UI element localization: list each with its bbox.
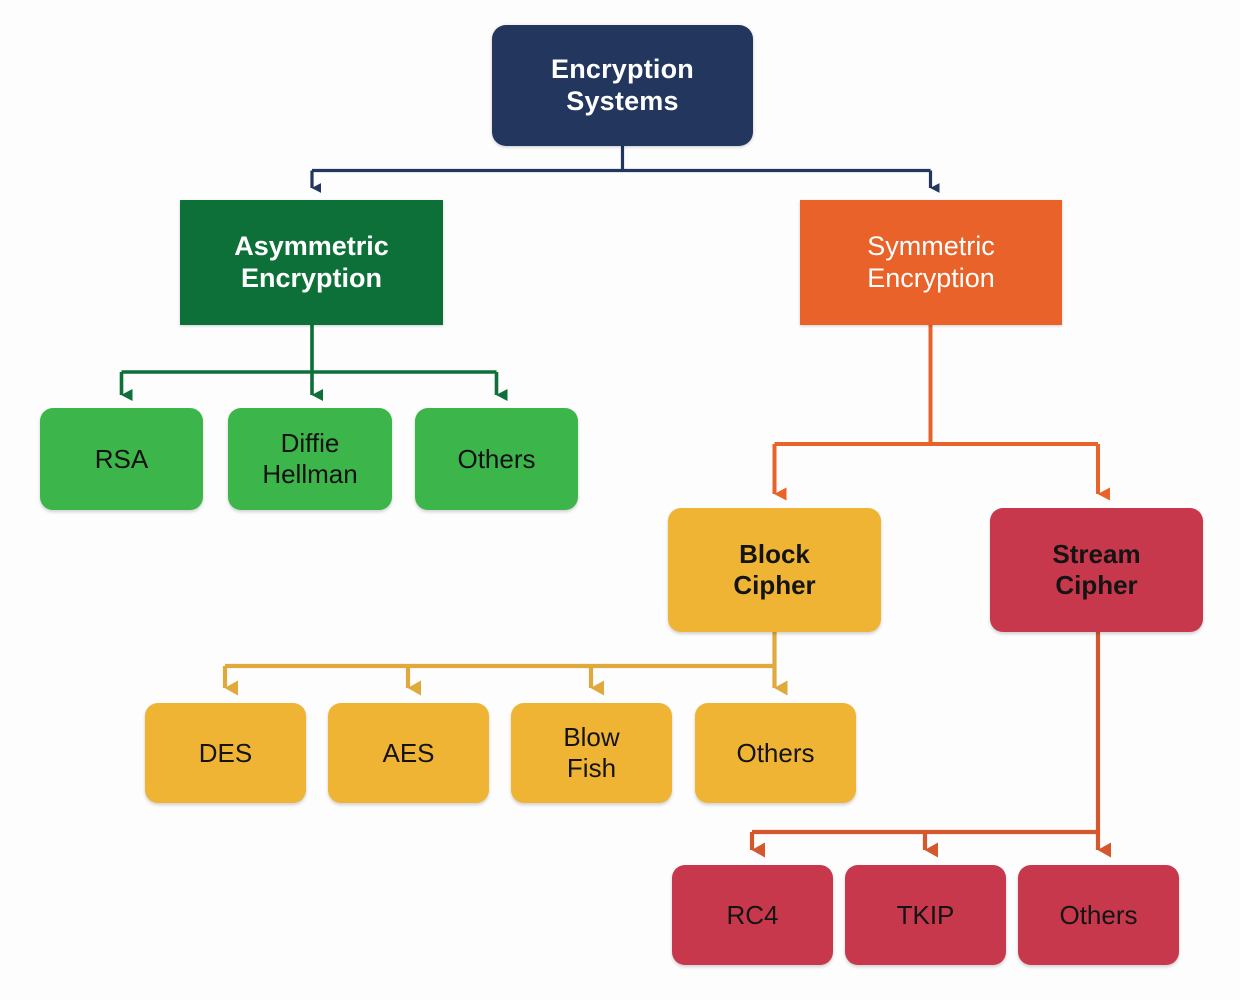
node-aes[interactable]: AES (328, 703, 489, 803)
edge-group-block (225, 632, 775, 688)
node-blow-fish[interactable]: Blow Fish (511, 703, 672, 803)
node-block-others[interactable]: Others (695, 703, 856, 803)
node-tkip[interactable]: TKIP (845, 865, 1006, 965)
node-asymmetric-others[interactable]: Others (415, 408, 578, 510)
diagram-canvas: Encryption Systems Asymmetric Encryption… (0, 0, 1240, 1000)
node-symmetric-encryption[interactable]: Symmetric Encryption (800, 200, 1062, 325)
node-asymmetric-encryption[interactable]: Asymmetric Encryption (180, 200, 443, 325)
node-des[interactable]: DES (145, 703, 306, 803)
node-rc4[interactable]: RC4 (672, 865, 833, 965)
node-block-cipher[interactable]: Block Cipher (668, 508, 881, 632)
node-stream-others[interactable]: Others (1018, 865, 1179, 965)
node-rsa[interactable]: RSA (40, 408, 203, 510)
node-diffie-hellman[interactable]: Diffie Hellman (228, 408, 392, 510)
node-encryption-systems[interactable]: Encryption Systems (492, 25, 753, 146)
node-stream-cipher[interactable]: Stream Cipher (990, 508, 1203, 632)
edge-group-root (312, 146, 931, 188)
edge-group-asymmetric (122, 325, 497, 395)
edge-group-symmetric (775, 325, 1099, 494)
